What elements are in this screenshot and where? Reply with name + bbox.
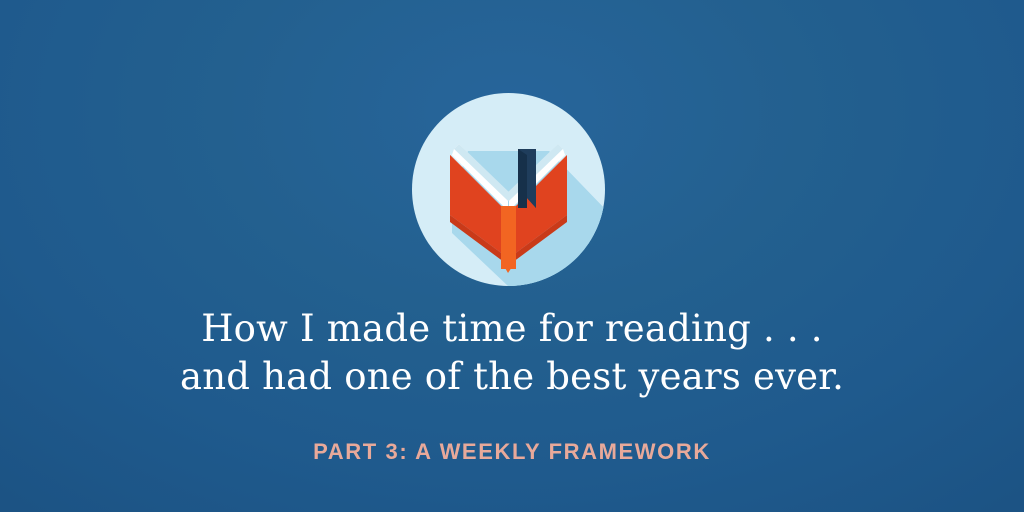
headline-line-2: and had one of the best years ever.	[0, 353, 1024, 401]
subtitle: PART 3: A WEEKLY FRAMEWORK	[0, 439, 1024, 465]
headline: How I made time for reading . . . and ha…	[0, 305, 1024, 401]
promo-banner: How I made time for reading . . . and ha…	[0, 0, 1024, 512]
open-book-icon	[412, 93, 605, 286]
headline-line-1: How I made time for reading . . .	[0, 305, 1024, 353]
